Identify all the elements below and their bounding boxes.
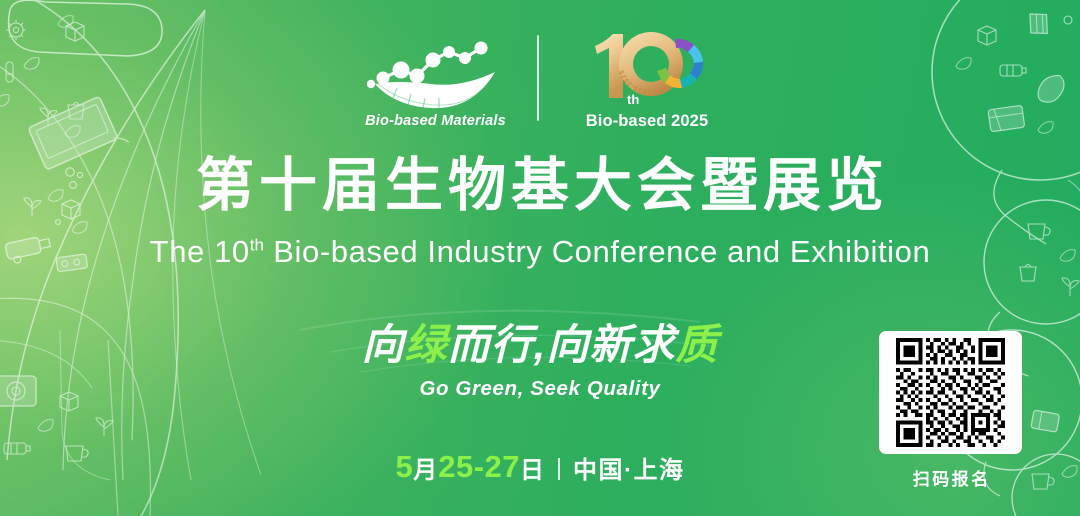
ten-anniversary-donut-icon: 2015-2025 th <box>577 24 717 110</box>
title-en-after: Bio-based Industry Conference and Exhibi… <box>264 234 930 269</box>
qr-code-icon[interactable] <box>896 338 1005 447</box>
qr-registration-block[interactable]: 扫码报名 <box>879 331 1022 490</box>
ordinal-th-text: th <box>627 92 639 107</box>
slogan-chinese: 向绿而行,向新求质 <box>362 322 719 368</box>
title-en-before: The 10 <box>150 234 250 269</box>
slogan-part-5: 质 <box>675 321 718 368</box>
date-day-range: 25-27 <box>438 449 520 485</box>
page-title-chinese: 第十届生物基大会暨展览 <box>191 155 889 218</box>
headline-block: 第十届生物基大会暨展览 The 10th Bio-based Industry … <box>0 155 1080 270</box>
logo-row: Bio-based Materials <box>0 24 1080 131</box>
slogan-part-4: 向新求 <box>546 321 675 368</box>
page-title-english: The 10th Bio-based Industry Conference a… <box>150 234 931 270</box>
leaf-molecule-icon <box>361 26 511 112</box>
date-day-label: 日 <box>520 450 545 485</box>
ten-anniversary-logo: 2015-2025 th Bio-based 2025 <box>565 24 730 131</box>
bio-based-materials-logo: Bio-based Materials <box>351 26 521 129</box>
title-en-ordinal: th <box>250 235 264 254</box>
date-separator: | <box>556 454 562 481</box>
logo-divider <box>537 35 539 121</box>
conference-banner: Bio-based Materials <box>0 0 1080 516</box>
logo-right-label: Bio-based 2025 <box>586 112 708 131</box>
date-month-label: 月 <box>413 450 438 485</box>
event-location: 中国·上海 <box>573 450 685 485</box>
slogan-part-3: 而行, <box>448 321 547 368</box>
slogan-part-2: 绿 <box>405 321 448 368</box>
slogan-english: Go Green, Seek Quality <box>419 377 660 401</box>
slogan-part-1: 向 <box>362 321 405 368</box>
logo-left-label: Bio-based Materials <box>365 113 506 129</box>
qr-code-card[interactable] <box>879 331 1022 454</box>
date-month-number: 5 <box>395 449 413 485</box>
qr-caption: 扫码报名 <box>910 465 991 490</box>
